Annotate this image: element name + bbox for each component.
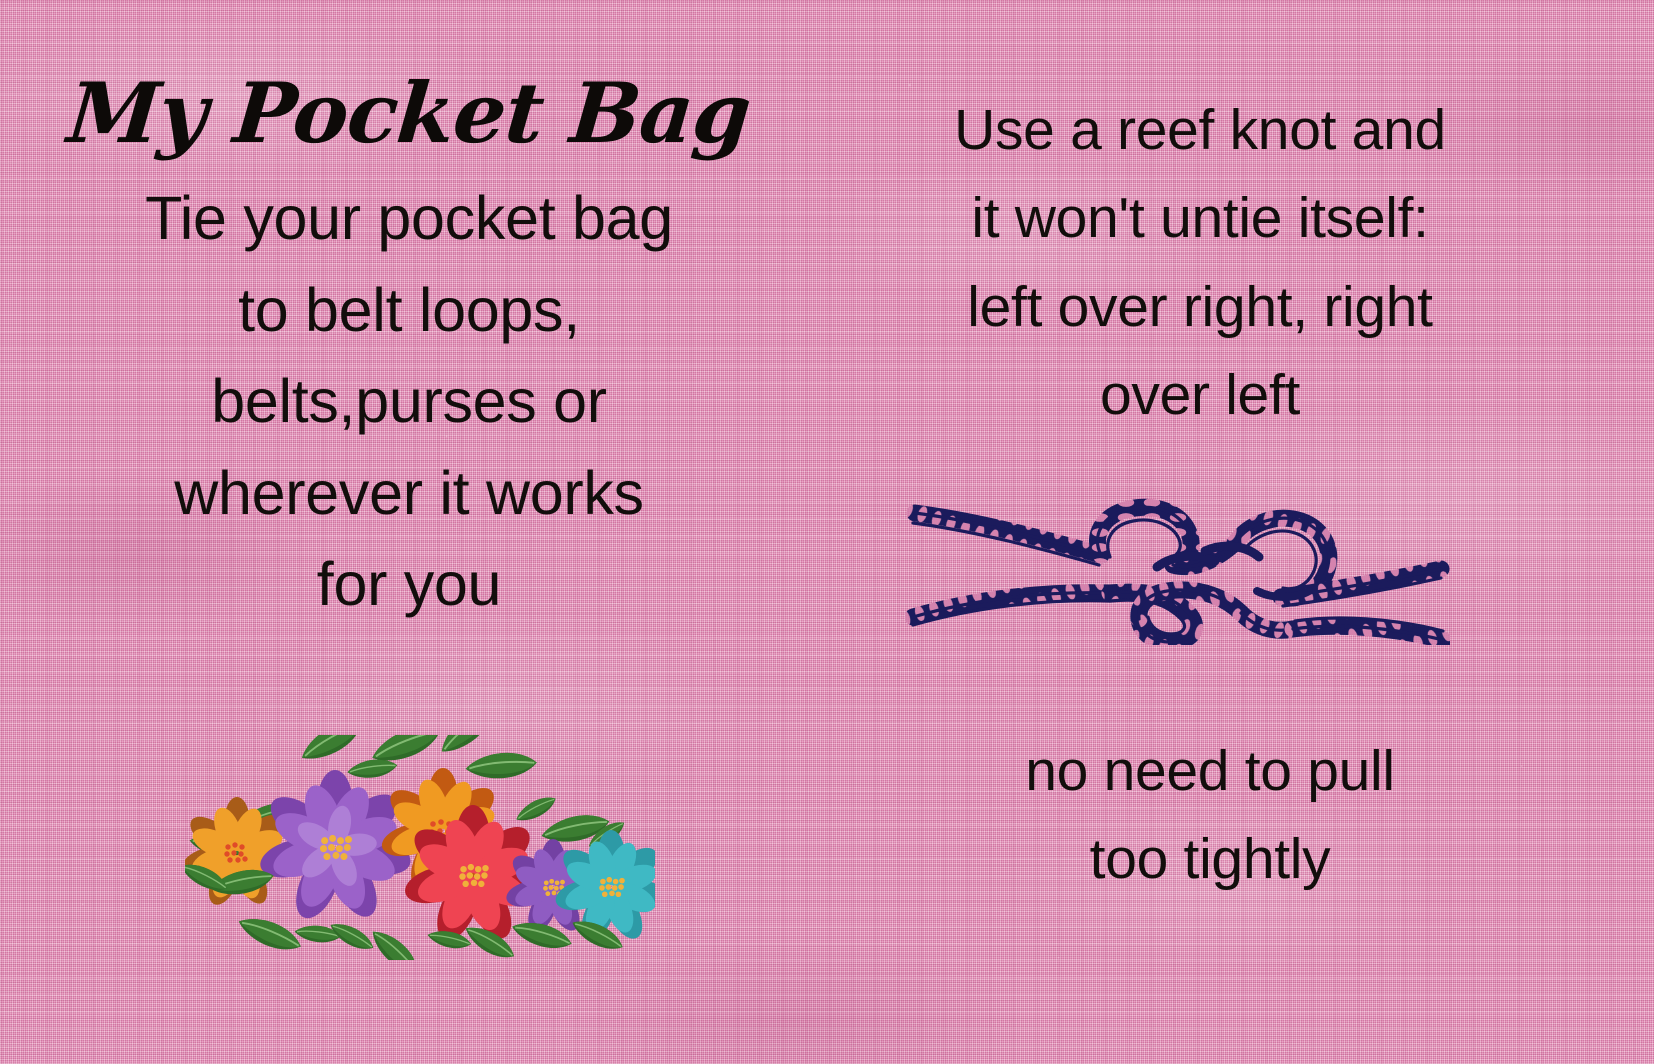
knot-instruction-line: Use a reef knot and [880, 86, 1520, 174]
left-column: My Pocket Bag Tie your pocket bag to bel… [48, 72, 770, 631]
instruction-line: wherever it works [48, 448, 770, 540]
flower-cluster-icon [185, 735, 655, 960]
knot-instructions: Use a reef knot and it won't untie itsel… [880, 86, 1520, 439]
pocket-bag-instructions: Tie your pocket bag to belt loops, belts… [48, 173, 770, 631]
page-title: My Pocket Bag [44, 72, 773, 155]
instruction-line: to belt loops, [48, 265, 770, 357]
poster-canvas: My Pocket Bag Tie your pocket bag to bel… [0, 0, 1654, 1064]
tension-note: no need to pull too tightly [930, 727, 1490, 904]
knot-instruction-line: left over right, right [880, 263, 1520, 351]
instruction-line: Tie your pocket bag [48, 173, 770, 265]
instruction-line: belts,purses or [48, 356, 770, 448]
reef-knot-icon [905, 495, 1450, 645]
right-column: Use a reef knot and it won't untie itsel… [880, 86, 1520, 439]
knot-instruction-line: it won't untie itself: [880, 174, 1520, 262]
instruction-line: for you [48, 539, 770, 631]
tension-note-line: no need to pull [930, 727, 1490, 815]
knot-instruction-line: over left [880, 351, 1520, 439]
tension-note-line: too tightly [930, 815, 1490, 903]
